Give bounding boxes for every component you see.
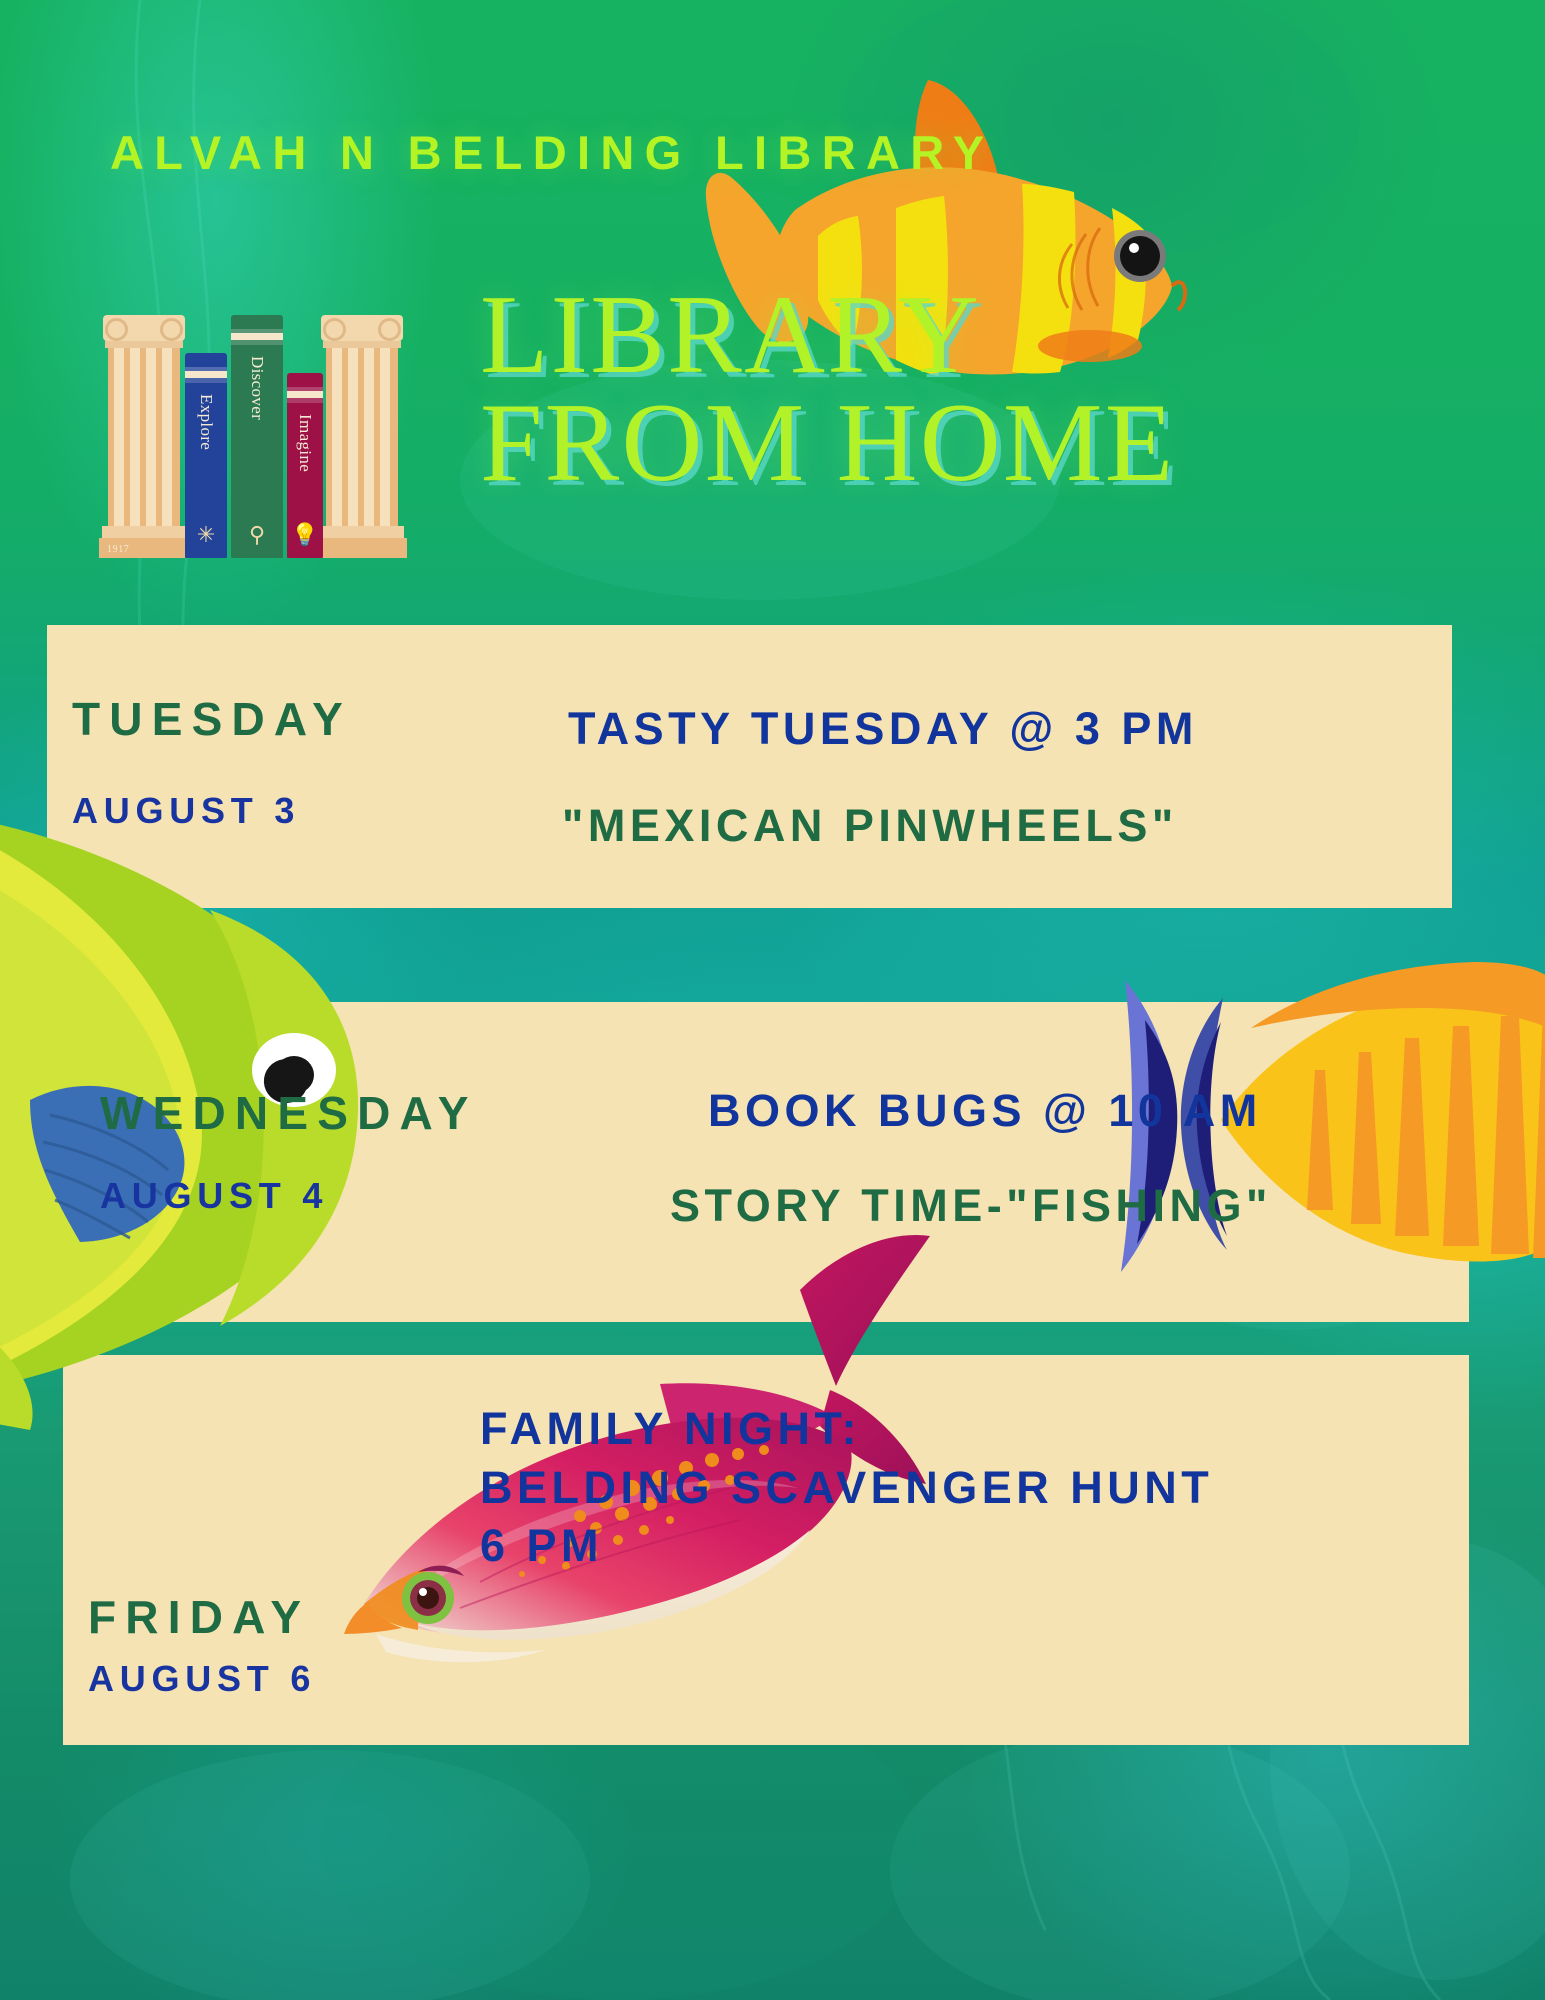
organization-name: ALVAH N BELDING LIBRARY: [110, 125, 994, 180]
book-title-imagine: Imagine: [295, 414, 315, 472]
book-explore: Explore ✳: [185, 353, 227, 558]
ionic-column-left: 1917: [108, 315, 180, 558]
book-title-explore: Explore: [196, 394, 216, 450]
wednesday-event-primary: BOOK BUGS @ 10 AM: [708, 1082, 1262, 1141]
tuesday-event-primary: TASTY TUESDAY @ 3 PM: [568, 700, 1198, 759]
friday-date-label: AUGUST 6: [88, 1658, 316, 1700]
compass-star-icon: ✳: [197, 522, 215, 548]
ionic-column-right: [326, 315, 398, 558]
wednesday-date-label: AUGUST 4: [100, 1175, 328, 1217]
tuesday-date-label: AUGUST 3: [72, 790, 300, 832]
friday-day-label: FRIDAY: [88, 1590, 310, 1644]
column-neck: [105, 341, 183, 348]
column-capital-icon: [321, 315, 403, 341]
wednesday-day-label: WEDNESDAY: [100, 1086, 478, 1140]
lightbulb-icon: 💡: [291, 522, 318, 548]
book-imagine: Imagine 💡: [287, 373, 323, 558]
founding-year-label: 1917: [107, 544, 129, 555]
library-logo: 1917 Explore ✳ Discover ⚲ Imagine 💡: [108, 258, 398, 558]
column-base: [102, 526, 186, 538]
poster-title: LIBRARY FROM HOME: [480, 282, 1175, 497]
friday-event-primary: FAMILY NIGHT: BELDING SCAVENGER HUNT 6 P…: [480, 1400, 1213, 1576]
book-band: [231, 333, 283, 340]
wednesday-event-secondary: STORY TIME-"FISHING": [670, 1180, 1272, 1232]
column-capital-icon: [103, 315, 185, 341]
tuesday-day-label: TUESDAY: [72, 692, 352, 746]
book-band: [185, 371, 227, 378]
column-neck: [323, 341, 401, 348]
column-plinth: 1917: [99, 538, 189, 558]
column-shaft: [108, 348, 180, 526]
book-discover: Discover ⚲: [231, 315, 283, 558]
column-plinth: [317, 538, 407, 558]
column-shaft: [326, 348, 398, 526]
poster-canvas: 1917 Explore ✳ Discover ⚲ Imagine 💡 ALVA…: [0, 0, 1545, 2000]
book-title-discover: Discover: [247, 356, 267, 420]
tuesday-event-secondary: "MEXICAN PINWHEELS": [562, 800, 1178, 852]
column-base: [320, 526, 404, 538]
magnifying-glass-icon: ⚲: [249, 522, 265, 548]
book-band: [287, 391, 323, 398]
